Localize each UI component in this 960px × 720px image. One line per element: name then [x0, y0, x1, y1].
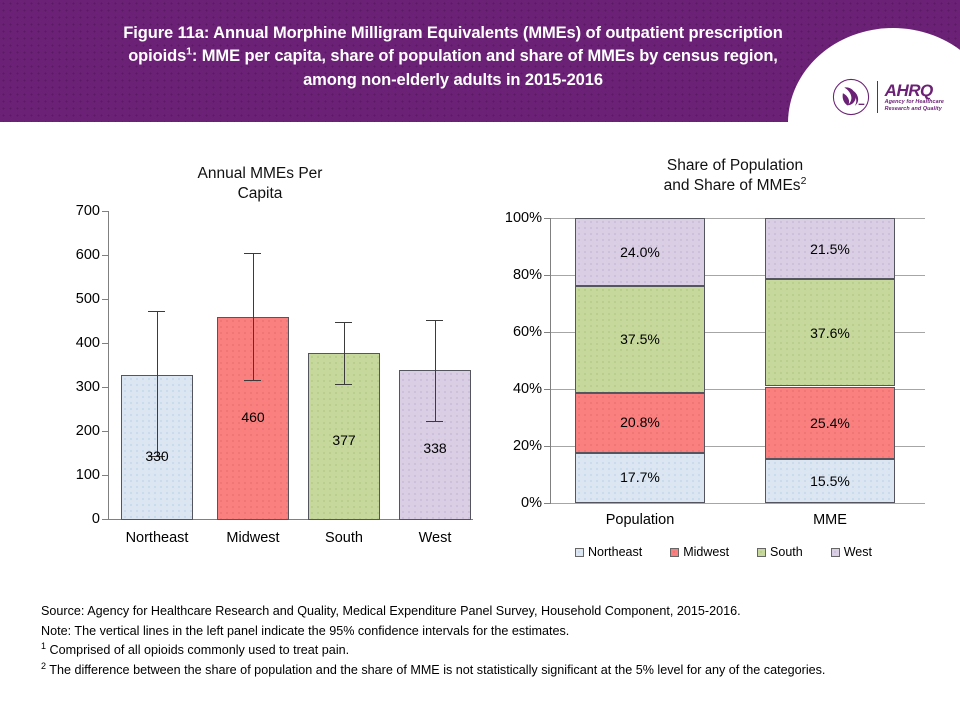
left-xlabel-west: West [393, 530, 477, 546]
footnote-1: 1 Comprised of all opioids commonly used… [41, 641, 931, 661]
right-ytick-80: 80% [480, 267, 542, 283]
figure-page: Figure 11a: Annual Morphine Milligram Eq… [0, 0, 960, 720]
ahrq-tagline-line-2: Research and Quality [885, 107, 944, 112]
stack-value-population-west: 24.0% [575, 244, 705, 260]
hhs-seal-icon [832, 78, 870, 116]
left-xlabel-south: South [302, 530, 386, 546]
ahrq-logo: AHRQ Agency for Healthcare Research and … [832, 78, 944, 116]
error-bar-west-cap-upper [426, 320, 443, 321]
bar-value-northeast: 330 [121, 448, 193, 464]
left-ytick-400: 400 [40, 335, 100, 351]
left-ytick-700: 700 [40, 203, 100, 219]
chart-annual-mmes-per-capita: Annual MMEs Per Capita 700 600 500 400 3… [40, 150, 490, 560]
left-chart-title-line-2: Capita [238, 185, 283, 202]
footnote-1-text: Comprised of all opioids commonly used t… [46, 643, 349, 657]
left-chart-title: Annual MMEs Per Capita [135, 164, 385, 204]
right-ytick-60: 60% [480, 324, 542, 340]
left-ytick-100: 100 [40, 467, 100, 483]
figure-footnotes: Source: Agency for Healthcare Research a… [41, 602, 931, 680]
left-ytick-200: 200 [40, 423, 100, 439]
footnote-source: Source: Agency for Healthcare Research a… [41, 602, 931, 622]
legend-item-south[interactable]: South [757, 545, 803, 559]
error-bar-west-line [435, 320, 436, 421]
right-ytick-100: 100% [480, 210, 542, 226]
figure-title-line-2-a: opioids [128, 47, 186, 65]
left-ytick-0: 0 [40, 511, 100, 527]
legend-swatch-south-icon [757, 548, 766, 557]
right-ytick-20: 20% [480, 438, 542, 454]
legend-label-south: South [770, 545, 803, 559]
right-chart-title-line-1: Share of Population [667, 157, 803, 174]
error-bar-northeast-line [157, 311, 158, 457]
figure-title-line-2-b: : MME per capita, share of population an… [192, 47, 778, 65]
chart-legend: Northeast Midwest South West [575, 545, 872, 559]
left-ytick-600: 600 [40, 247, 100, 263]
error-bar-south-line [344, 322, 345, 384]
left-y-axis-line [108, 211, 109, 520]
stack-value-mme-west: 21.5% [765, 241, 895, 257]
stack-value-mme-northeast: 15.5% [765, 473, 895, 489]
legend-label-west: West [844, 545, 872, 559]
right-y-axis-line [550, 218, 551, 504]
legend-swatch-northeast-icon [575, 548, 584, 557]
left-ytick-500: 500 [40, 291, 100, 307]
footnote-2-text: The difference between the share of popu… [46, 663, 825, 677]
error-bar-south-cap-lower [335, 384, 352, 385]
error-bar-midwest-cap-upper [244, 253, 261, 254]
footnote-note: Note: The vertical lines in the left pan… [41, 622, 931, 642]
right-ytick-0: 0% [480, 495, 542, 511]
bar-value-midwest: 460 [217, 409, 289, 425]
chart-share-of-population-and-mmes: Share of Population and Share of MMEs2 1… [480, 150, 940, 560]
stack-value-population-northeast: 17.7% [575, 469, 705, 485]
logo-divider [877, 81, 878, 113]
stack-value-mme-south: 37.6% [765, 325, 895, 341]
error-bar-west-cap-lower [426, 421, 443, 422]
ahrq-acronym: AHRQ [885, 82, 944, 99]
right-xlabel-population: Population [570, 512, 710, 528]
figure-header-banner: Figure 11a: Annual Morphine Milligram Eq… [0, 0, 960, 122]
error-bar-south-cap-upper [335, 322, 352, 323]
right-chart-title-footnote-marker-2: 2 [801, 175, 807, 187]
error-bar-midwest-line [253, 253, 254, 381]
figure-title-line-3: among non-elderly adults in 2015-2016 [303, 71, 603, 89]
right-chart-title-line-2: and Share of MMEs [664, 177, 801, 194]
left-xlabel-midwest: Midwest [211, 530, 295, 546]
ahrq-wordmark: AHRQ Agency for Healthcare Research and … [885, 82, 944, 113]
right-xlabel-mme: MME [760, 512, 900, 528]
legend-label-midwest: Midwest [683, 545, 729, 559]
legend-item-northeast[interactable]: Northeast [575, 545, 642, 559]
error-bar-midwest-cap-lower [244, 380, 261, 381]
legend-item-west[interactable]: West [831, 545, 872, 559]
stack-value-population-south: 37.5% [575, 331, 705, 347]
legend-swatch-midwest-icon [670, 548, 679, 557]
legend-label-northeast: Northeast [588, 545, 642, 559]
legend-item-midwest[interactable]: Midwest [670, 545, 729, 559]
legend-swatch-west-icon [831, 548, 840, 557]
left-ytick-300: 300 [40, 379, 100, 395]
right-ytick-40: 40% [480, 381, 542, 397]
right-gridline-0 [550, 503, 925, 504]
figure-title-line-1: Figure 11a: Annual Morphine Milligram Eq… [123, 24, 782, 42]
figure-title: Figure 11a: Annual Morphine Milligram Eq… [58, 22, 848, 92]
error-bar-northeast-cap-upper [148, 311, 165, 312]
stack-value-population-midwest: 20.8% [575, 414, 705, 430]
left-chart-title-line-1: Annual MMEs Per [198, 165, 323, 182]
bar-value-west: 338 [399, 440, 471, 456]
ahrq-tagline-line-1: Agency for Healthcare [885, 100, 944, 105]
left-xlabel-northeast: Northeast [115, 530, 199, 546]
footnote-2: 2 The difference between the share of po… [41, 661, 931, 681]
stack-value-mme-midwest: 25.4% [765, 415, 895, 431]
bar-value-south: 377 [308, 432, 380, 448]
right-chart-title: Share of Population and Share of MMEs2 [590, 156, 880, 196]
